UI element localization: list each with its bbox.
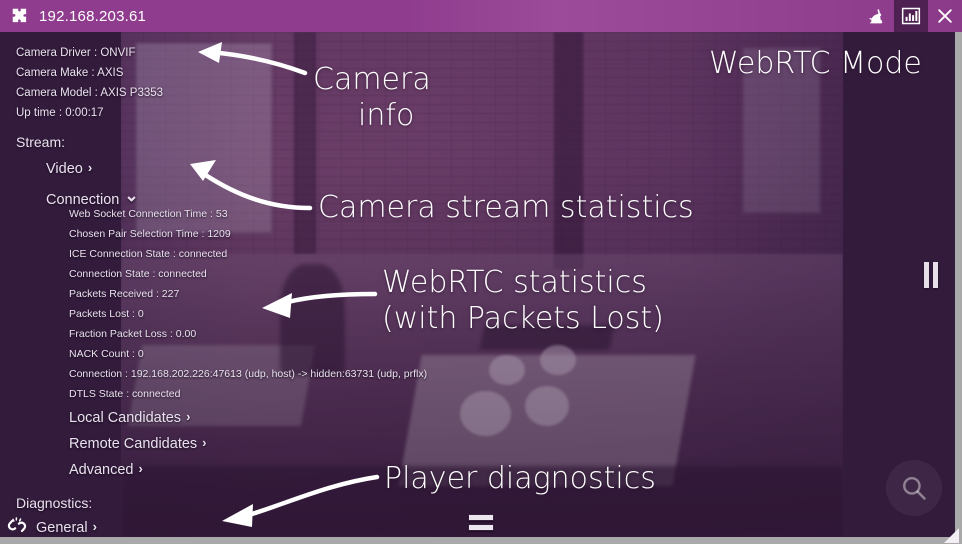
annotation-webrtc-statistics: WebRTC statistics (with Packets Lost) [382,265,664,337]
chevron-down-icon: ⌄ [124,186,138,206]
stream-item-video[interactable]: Video› [46,160,92,177]
webrtc-player-window: 192.168.203.61 [0,0,962,544]
close-icon[interactable] [928,0,962,32]
stream-item-video-label: Video [46,161,83,177]
stat-nack-count: NACK Count : 0 [69,348,144,360]
camera-driver-line: Camera Driver : ONVIF [16,47,136,59]
window-border-right [955,0,962,544]
search-icon [897,471,931,505]
bar-chart-icon[interactable] [894,0,928,32]
title-bar: 192.168.203.61 [0,0,962,32]
chevron-right-icon: › [186,409,190,424]
stat-packets-received: Packets Received : 227 [69,288,179,300]
stream-item-local-candidates[interactable]: Local Candidates› [69,409,190,426]
drag-handle-bar [468,514,494,521]
stream-item-connection-label: Connection [46,192,119,208]
mode-label: WebRTC Mode [709,46,922,82]
stat-packets-lost: Packets Lost : 0 [69,308,144,320]
stat-ice-connection-state: ICE Connection State : connected [69,248,227,260]
diagnostics-item-general-label: General [36,520,88,536]
drag-handle[interactable] [468,514,494,534]
chevron-right-icon: › [139,461,143,476]
camera-uptime-line: Up time : 0:00:17 [16,107,104,119]
pause-button[interactable] [924,262,938,288]
stat-websocket-connection-time: Web Socket Connection Time : 53 [69,208,228,220]
stream-item-remote-candidates-label: Remote Candidates [69,436,197,452]
stream-item-connection[interactable]: Connection⌄ [46,186,139,208]
title-bar-buttons [860,0,962,32]
diagnostics-item-general[interactable]: General› [36,519,97,536]
stat-connection-pair: Connection : 192.168.202.226:47613 (udp,… [69,368,427,380]
magnifier-button[interactable] [886,460,942,516]
stream-item-local-candidates-label: Local Candidates [69,410,181,426]
rabbit-icon[interactable] [860,0,894,32]
stat-chosen-pair-selection-time: Chosen Pair Selection Time : 1209 [69,228,231,240]
drag-handle-bar [468,524,494,531]
window-border-bottom [0,537,962,544]
chevron-right-icon: › [88,160,92,175]
stat-dtls-state: DTLS State : connected [69,388,180,400]
broken-link-icon [6,515,28,537]
chevron-right-icon: › [202,435,206,450]
stream-item-advanced-label: Advanced [69,462,134,478]
stat-connection-state: Connection State : connected [69,268,207,280]
resize-grip[interactable] [944,528,959,543]
camera-model-line: Camera Model : AXIS P3353 [16,87,163,99]
window-title: 192.168.203.61 [39,8,860,25]
diagnostics-heading: Diagnostics: [16,495,92,511]
stream-heading: Stream: [16,134,65,150]
stream-item-remote-candidates[interactable]: Remote Candidates› [69,435,207,452]
camera-make-line: Camera Make : AXIS [16,67,123,79]
stat-fraction-packet-loss: Fraction Packet Loss : 0.00 [69,328,196,340]
stream-item-advanced[interactable]: Advanced› [69,461,143,478]
annotation-camera-info: Camera info [313,62,431,134]
puzzle-piece-icon [11,7,29,25]
pause-bar-right [933,262,938,288]
chevron-right-icon: › [93,519,97,534]
annotation-player-diagnostics: Player diagnostics [384,461,656,497]
annotation-camera-stream-statistics: Camera stream statistics [318,190,694,226]
pause-bar-left [924,262,929,288]
